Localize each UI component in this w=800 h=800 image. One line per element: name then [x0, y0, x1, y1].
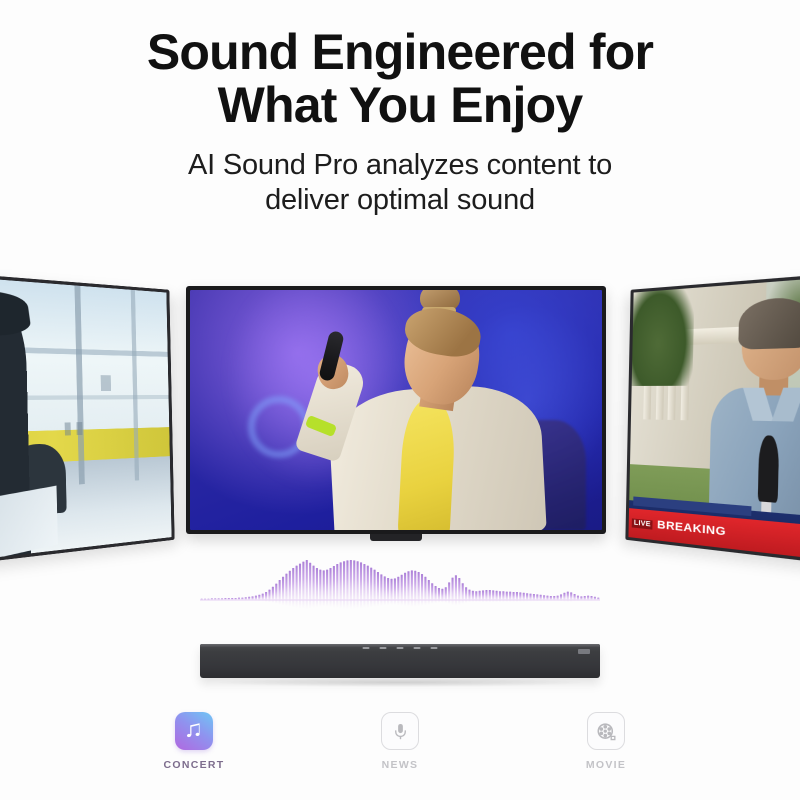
soundbar-control-mark[interactable]: [431, 647, 438, 649]
concert-screen-content: [190, 290, 602, 530]
movie-detail-c: [101, 375, 111, 391]
movie-screen-content: [0, 275, 172, 563]
soundbar-brand-logo: [578, 649, 590, 654]
film-reel-icon[interactable]: [587, 712, 625, 750]
subtitle-line-1: AI Sound Pro analyzes content to: [0, 148, 800, 183]
tv-center-stand: [370, 534, 422, 541]
microphone-icon[interactable]: [381, 712, 419, 750]
soundbar-shadow: [214, 678, 586, 687]
mode-button-movie[interactable]: MOVIE: [558, 712, 654, 771]
movie-detail-e: [76, 422, 82, 435]
soundbar-control-mark[interactable]: [380, 647, 387, 649]
soundbar-control-mark[interactable]: [363, 647, 370, 649]
soundbar-device: [200, 644, 600, 678]
soundbar-control-mark[interactable]: [397, 647, 404, 649]
mode-label-news: NEWS: [352, 759, 448, 771]
mode-button-news[interactable]: NEWS: [352, 712, 448, 771]
tv-right-news: LIVE BREAKING NEWS: [625, 271, 800, 567]
news-breaking-text: BREAKING: [657, 519, 726, 539]
soundbar-control-mark[interactable]: [414, 647, 421, 649]
subtitle-line-2: deliver optimal sound: [0, 183, 800, 218]
news-live-tag: LIVE: [632, 518, 653, 529]
page-headline: Sound Engineered for What You Enjoy: [0, 26, 800, 132]
mode-button-concert[interactable]: CONCERT: [146, 712, 242, 771]
concert-singer: [342, 290, 532, 530]
headline-line-1: Sound Engineered for: [0, 26, 800, 79]
music-note-glyph: [183, 720, 205, 742]
soundbar-controls[interactable]: [363, 647, 438, 649]
waveform-bars: [200, 560, 600, 609]
news-screen-content: LIVE BREAKING NEWS: [628, 275, 800, 563]
soundbar-area: [0, 636, 800, 692]
reporter-hair: [738, 295, 800, 350]
microphone-glyph: [391, 722, 410, 741]
waveform-svg: [200, 556, 600, 620]
audio-waveform: [200, 556, 600, 620]
reporter-microphone-head: [757, 436, 778, 503]
movie-detail-d: [65, 422, 71, 435]
header-block: Sound Engineered for What You Enjoy AI S…: [0, 0, 800, 219]
headline-line-2: What You Enjoy: [0, 79, 800, 132]
tv-display-stage: LIVE BREAKING NEWS: [0, 272, 800, 562]
mode-label-concert: CONCERT: [146, 759, 242, 771]
mode-label-movie: MOVIE: [558, 759, 654, 771]
music-note-icon[interactable]: [175, 712, 213, 750]
film-reel-glyph: [596, 721, 617, 742]
tv-left-movie: [0, 271, 175, 567]
news-tree-left: [628, 278, 694, 386]
tv-center-concert: [186, 286, 606, 534]
sound-mode-selector: CONCERT NEWS MOVIE: [0, 712, 800, 771]
page-subtitle: AI Sound Pro analyzes content to deliver…: [0, 148, 800, 219]
